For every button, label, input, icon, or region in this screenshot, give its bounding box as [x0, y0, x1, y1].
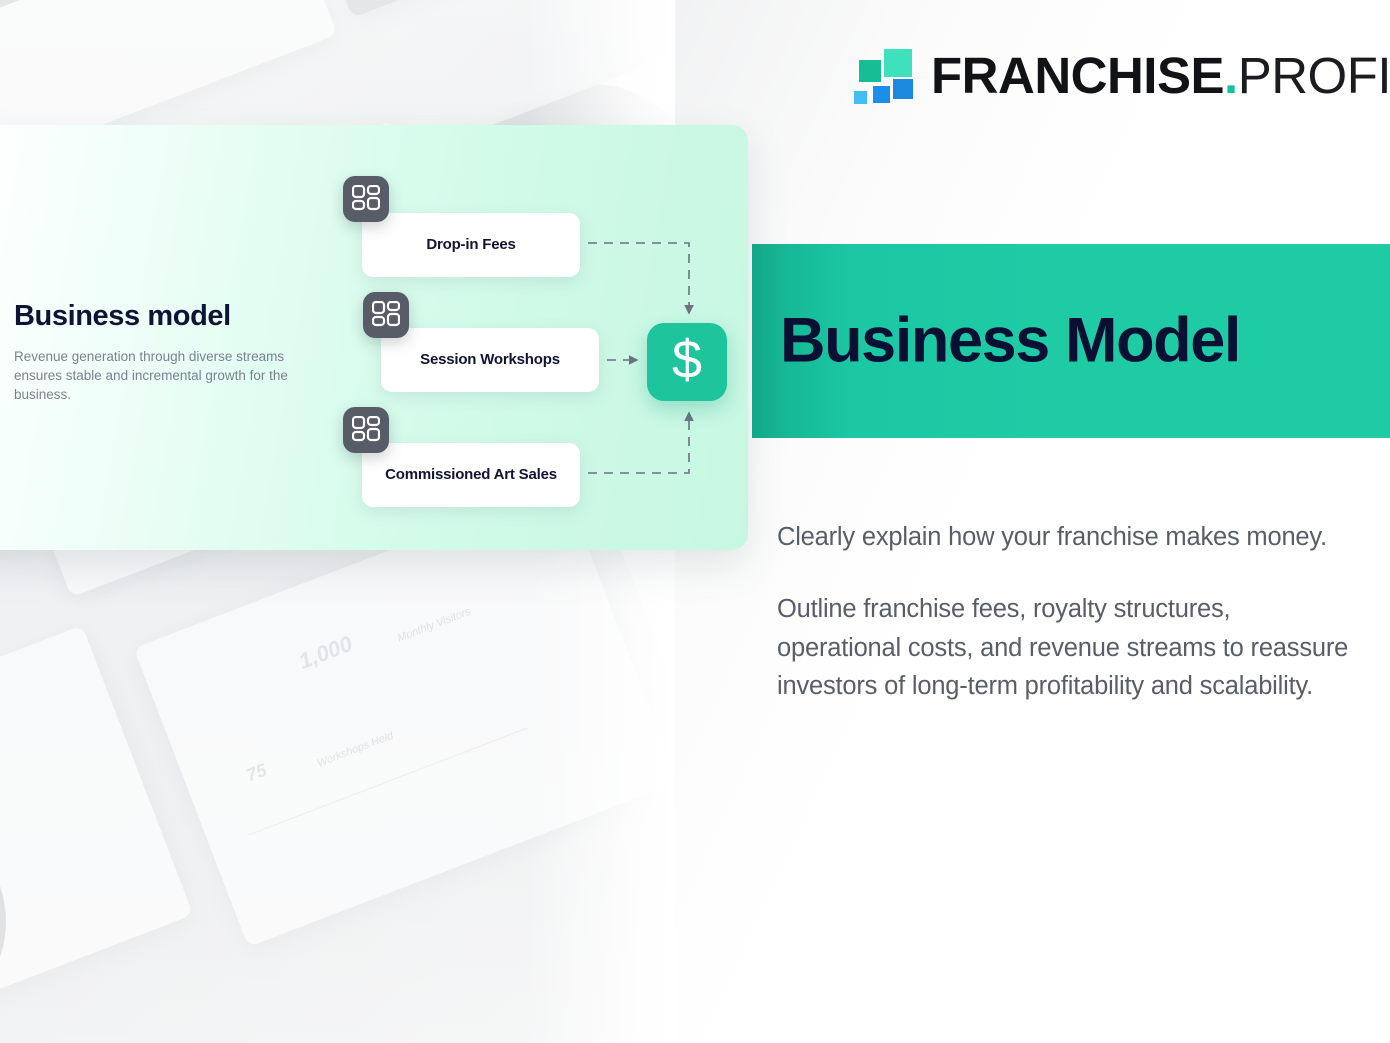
- background-stat-value: 75: [244, 760, 270, 787]
- logo-wordmark: FRANCHISE . PROFILES: [931, 50, 1390, 101]
- slide-stage: MARKET spaces in urban and suburban area…: [0, 0, 1390, 1043]
- logo-word-dot: .: [1224, 50, 1238, 101]
- background-stat-label: Monthly Visitors: [396, 606, 473, 645]
- section-title-banner: Business Model: [752, 244, 1390, 438]
- background-slide: 1,000 Monthly Visitors 75 Workshops Held: [134, 483, 675, 947]
- diagram-node-label: Drop-in Fees: [426, 236, 515, 255]
- dollar-glyph: $: [672, 333, 702, 387]
- diagram-node-label: Session Workshops: [420, 351, 560, 370]
- page-title: Business Model: [780, 310, 1240, 373]
- logo-word-bold: FRANCHISE: [931, 50, 1224, 101]
- diagram-node-label: Commissioned Art Sales: [385, 466, 557, 485]
- diagram-node[interactable]: Drop-in Fees: [362, 213, 580, 277]
- grid-dashboard-icon: [343, 407, 389, 453]
- dollar-sign-icon: $: [647, 323, 727, 401]
- logo-squares-icon: [849, 44, 913, 106]
- background-stat-label: Workshops Held: [315, 730, 395, 770]
- body-paragraph-2: Outline franchise fees, royalty structur…: [777, 590, 1352, 705]
- body-copy: Clearly explain how your franchise makes…: [777, 518, 1352, 705]
- diagram-node[interactable]: Session Workshops: [381, 328, 599, 392]
- body-paragraph-1: Clearly explain how your franchise makes…: [777, 518, 1352, 556]
- background-slide-title: for pitch deck: [0, 0, 132, 28]
- slide-preview-card: Business model Revenue generation throug…: [0, 125, 748, 550]
- brand-logo[interactable]: FRANCHISE . PROFILES: [849, 40, 1390, 110]
- diagram-node[interactable]: Commissioned Art Sales: [362, 443, 580, 507]
- grid-dashboard-icon: [343, 176, 389, 222]
- revenue-streams-diagram: Drop-in Fees Session Workshops: [0, 125, 748, 550]
- grid-dashboard-icon: [363, 292, 409, 338]
- logo-word-thin: PROFILES: [1238, 50, 1390, 101]
- background-stat-value: 1,000: [295, 631, 356, 675]
